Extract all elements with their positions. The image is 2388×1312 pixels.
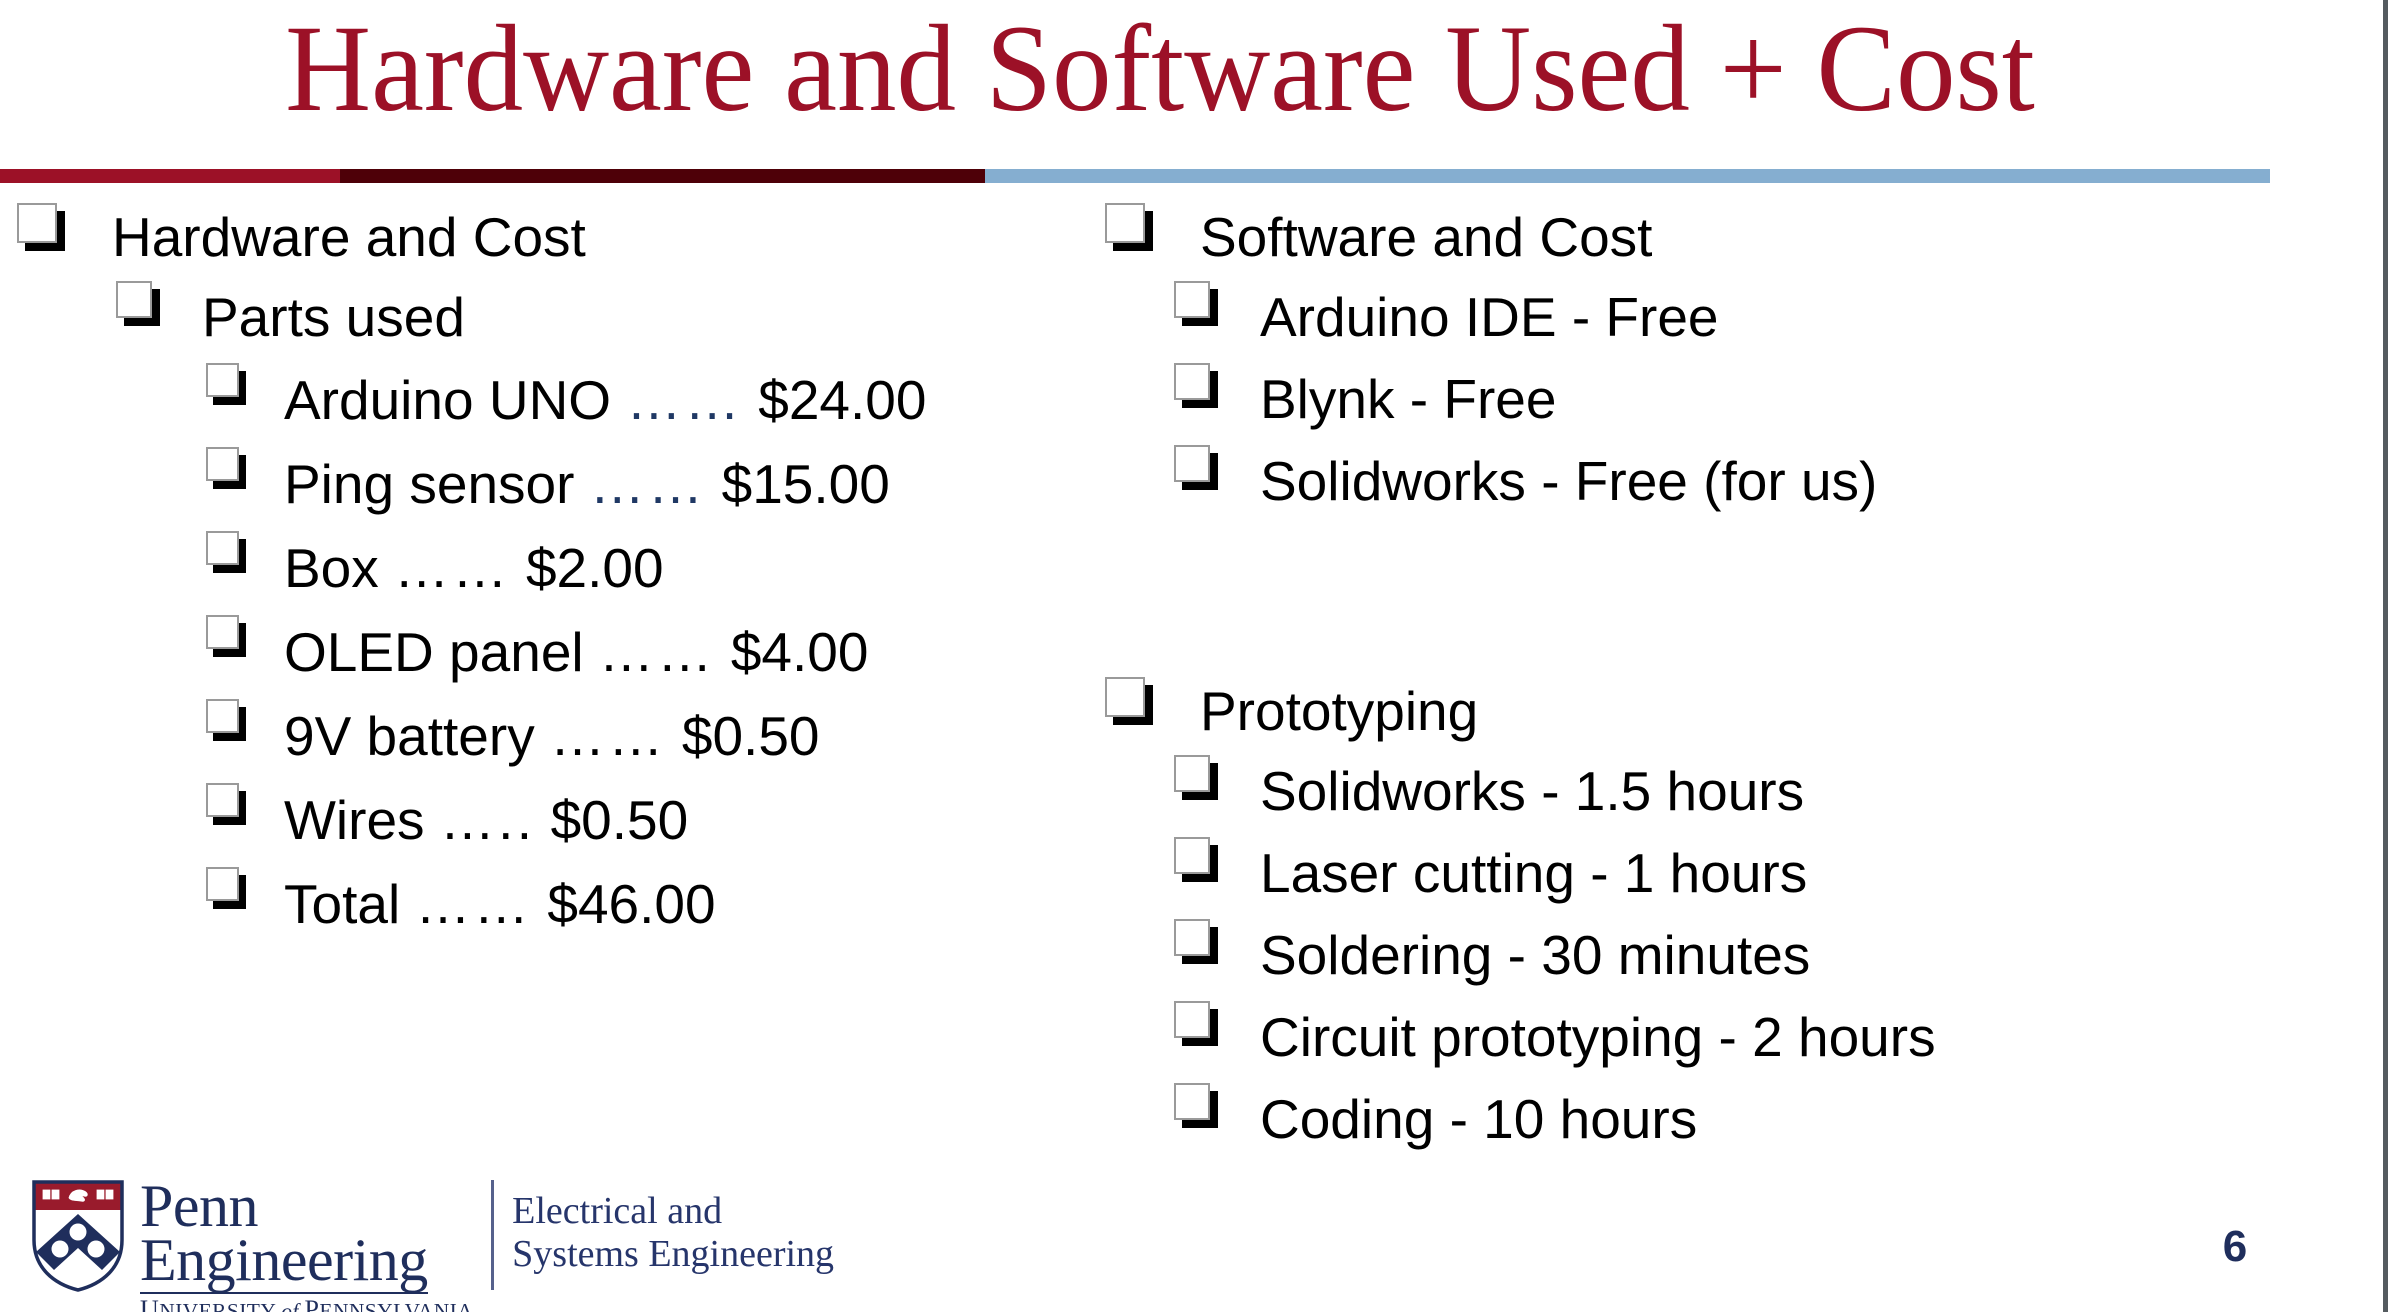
right-content-column: Software and Cost Arduino IDE - Free Bly…: [1090, 198, 2300, 1160]
box-bullet-icon: [202, 862, 248, 922]
prototyping-heading-label: Prototyping: [1200, 672, 1478, 750]
wordmark-university-of-pennsylvania: UNIVERSITY of PENNSYLVANIA: [140, 1297, 473, 1312]
slide-title: Hardware and Software Used + Cost: [46, 0, 2273, 144]
list-item: Blynk - Free: [1170, 358, 2300, 440]
list-item: Solidworks - Free (for us): [1170, 440, 2300, 522]
prototyping-item-label: Coding - 10 hours: [1260, 1078, 1697, 1160]
part-row: OLED panel …… $4.00: [284, 610, 868, 694]
part-row: Box …… $2.00: [284, 526, 664, 610]
box-bullet-icon: [202, 358, 248, 418]
list-item: Prototyping: [1100, 672, 2300, 750]
title-divider-bar: [0, 169, 2270, 183]
divider-segment-maroon: [340, 169, 985, 183]
part-price: $46.00: [547, 873, 715, 935]
software-item-label: Blynk - Free: [1260, 358, 1556, 440]
penn-engineering-logo: Penn Engineering UNIVERSITY of PENNSYLVA…: [30, 1176, 770, 1296]
page-number: 6: [2200, 1222, 2270, 1272]
leader-dots: ……: [550, 705, 667, 767]
wordmark-niversity: NIVERSITY: [159, 1299, 275, 1312]
department-line-1: Electrical and: [512, 1190, 834, 1233]
part-name: Wires: [284, 789, 425, 851]
part-row: Arduino UNO …… $24.00: [284, 358, 926, 442]
part-price: $24.00: [758, 369, 926, 431]
box-bullet-icon: [1170, 276, 1220, 338]
leader-dots: ……: [599, 621, 716, 683]
penn-engineering-wordmark: Penn Engineering UNIVERSITY of PENNSYLVA…: [140, 1176, 473, 1312]
part-name: Ping sensor: [284, 453, 574, 515]
list-item: Laser cutting - 1 hours: [1170, 832, 2300, 914]
leader-dots: …..: [440, 789, 535, 851]
wordmark-engineering: Engineering: [140, 1230, 428, 1294]
divider-segment-blue: [985, 169, 2270, 183]
part-price: $15.00: [722, 453, 890, 515]
box-bullet-icon: [1170, 440, 1220, 502]
prototyping-item-label: Circuit prototyping - 2 hours: [1260, 996, 1936, 1078]
part-row: Total …… $46.00: [284, 862, 716, 946]
part-price: $0.50: [682, 705, 820, 767]
wordmark-ennsylvania: ENNSYLVANIA: [319, 1299, 473, 1312]
box-bullet-icon: [12, 198, 66, 260]
software-heading-label: Software and Cost: [1200, 198, 1652, 276]
box-bullet-icon: [202, 442, 248, 502]
part-price: $2.00: [526, 537, 664, 599]
slide-canvas: Hardware and Software Used + Cost Hardwa…: [0, 0, 2388, 1312]
leader-dots: ……: [626, 369, 743, 431]
prototyping-item-label: Soldering - 30 minutes: [1260, 914, 1810, 996]
part-name: Total: [284, 873, 400, 935]
box-bullet-icon: [202, 694, 248, 754]
parts-used-label: Parts used: [202, 276, 465, 358]
list-item: Ping sensor …… $15.00: [202, 442, 1072, 526]
list-item: Solidworks - 1.5 hours: [1170, 750, 2300, 832]
list-item: Coding - 10 hours: [1170, 1078, 2300, 1160]
leader-dots: ……: [415, 873, 532, 935]
section-spacer: [1090, 522, 2300, 672]
box-bullet-icon: [1100, 198, 1154, 260]
list-item: Software and Cost: [1100, 198, 2300, 276]
divider-segment-crimson: [0, 169, 340, 183]
prototyping-item-label: Solidworks - 1.5 hours: [1260, 750, 1804, 832]
part-row: Wires ….. $0.50: [284, 778, 688, 862]
part-name: 9V battery: [284, 705, 535, 767]
list-item: Circuit prototyping - 2 hours: [1170, 996, 2300, 1078]
list-item: Box …… $2.00: [202, 526, 1072, 610]
part-price: $0.50: [551, 789, 689, 851]
box-bullet-icon: [202, 526, 248, 586]
penn-shield-icon: [30, 1178, 126, 1294]
slide-body: Hardware and Cost Parts used Arduino UNO…: [0, 198, 2320, 1158]
box-bullet-icon: [202, 778, 248, 838]
wordmark-u-cap: U: [140, 1295, 159, 1312]
hardware-heading-label: Hardware and Cost: [112, 198, 586, 276]
part-name: Box: [284, 537, 379, 599]
box-bullet-icon: [202, 610, 248, 670]
software-item-label: Arduino IDE - Free: [1260, 276, 1719, 358]
box-bullet-icon: [112, 276, 162, 338]
leader-dots: ……: [394, 537, 511, 599]
department-name: Electrical and Systems Engineering: [512, 1190, 834, 1275]
wordmark-p-cap: P: [305, 1295, 320, 1312]
part-price: $4.00: [731, 621, 869, 683]
list-item: Soldering - 30 minutes: [1170, 914, 2300, 996]
list-item: Total …… $46.00: [202, 862, 1072, 946]
logo-divider-rule: [491, 1180, 494, 1290]
box-bullet-icon: [1100, 672, 1154, 734]
part-name: OLED panel: [284, 621, 584, 683]
part-name: Arduino UNO: [284, 369, 611, 431]
list-item: Wires ….. $0.50: [202, 778, 1072, 862]
list-item: OLED panel …… $4.00: [202, 610, 1072, 694]
left-content-column: Hardware and Cost Parts used Arduino UNO…: [12, 198, 1072, 946]
list-item: Arduino IDE - Free: [1170, 276, 2300, 358]
list-item: Arduino UNO …… $24.00: [202, 358, 1072, 442]
department-line-2: Systems Engineering: [512, 1233, 834, 1276]
box-bullet-icon: [1170, 1078, 1220, 1140]
box-bullet-icon: [1170, 832, 1220, 894]
software-item-label: Solidworks - Free (for us): [1260, 440, 1877, 522]
box-bullet-icon: [1170, 996, 1220, 1058]
leader-dots: ……: [590, 453, 707, 515]
list-item: Hardware and Cost: [12, 198, 1072, 276]
box-bullet-icon: [1170, 750, 1220, 812]
prototyping-item-label: Laser cutting - 1 hours: [1260, 832, 1807, 914]
list-item: Parts used: [112, 276, 1072, 358]
box-bullet-icon: [1170, 914, 1220, 976]
part-row: 9V battery …… $0.50: [284, 694, 820, 778]
box-bullet-icon: [1170, 358, 1220, 420]
part-row: Ping sensor …… $15.00: [284, 442, 890, 526]
list-item: 9V battery …… $0.50: [202, 694, 1072, 778]
wordmark-of: of: [281, 1299, 299, 1312]
